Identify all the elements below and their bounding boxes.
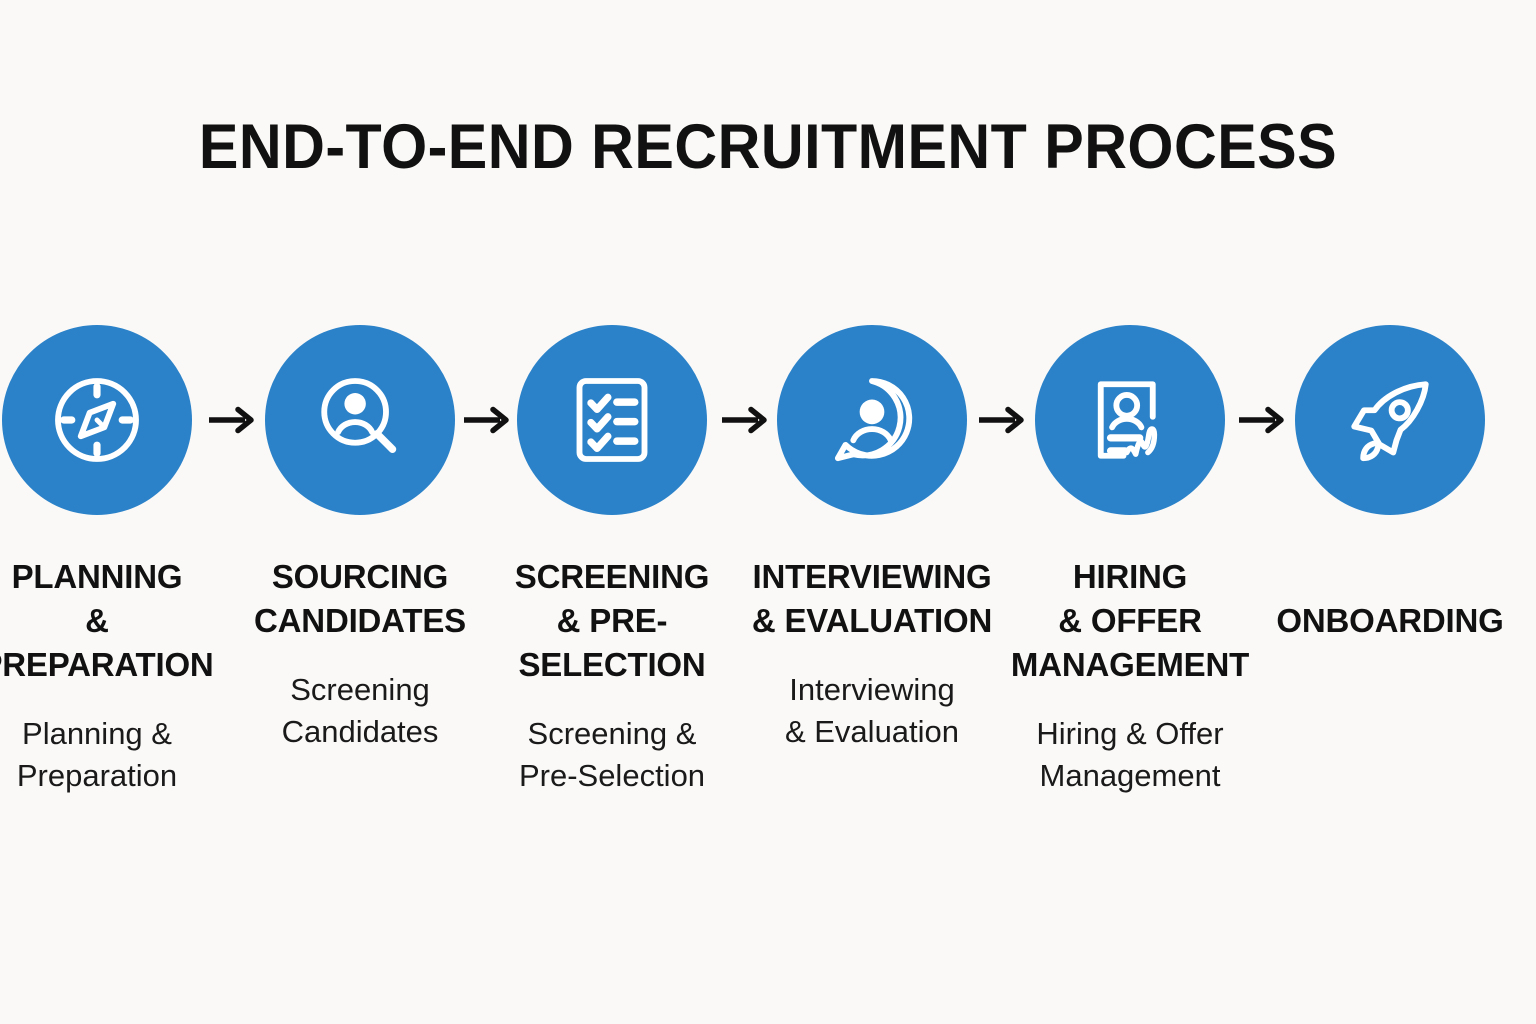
step-icon-circle-1 [2,325,192,515]
step-sublabel-1: Planning & Preparation [0,713,223,797]
process-step-hiring-offer-management[interactable]: HIRING & OFFER MANAGEMENT Hiring & Offer… [1004,325,1256,797]
arrow-step-4-to-5 [975,400,1031,440]
step-icon-circle-3 [517,325,707,515]
process-step-screening-preselection[interactable]: SCREENING & PRE- SELECTION Screening & P… [486,325,738,797]
arrow-step-5-to-6 [1235,400,1291,440]
step-sublabel-3: Screening & Pre-Selection [486,713,738,797]
step-heading-1: PLANNING & PREPARATION [0,555,223,687]
step-heading-3: SCREENING & PRE- SELECTION [486,555,738,687]
person-search-icon [308,368,412,472]
checklist-icon [560,368,664,472]
arrow-step-1-to-2 [205,400,261,440]
arrow-right-icon [205,400,261,440]
arrow-right-icon [460,400,516,440]
step-heading-6: ONBOARDING [1264,599,1516,643]
process-flow-diagram: PLANNING & PREPARATION Planning & Prepar… [0,0,1536,1024]
rocket-icon [1338,368,1442,472]
step-sublabel-4: Interviewing & Evaluation [746,669,998,753]
signed-document-icon [1078,368,1182,472]
arrow-right-icon [718,400,774,440]
step-icon-circle-5 [1035,325,1225,515]
step-heading-4: INTERVIEWING & EVALUATION [746,555,998,643]
step-icon-circle-4 [777,325,967,515]
arrow-right-icon [1235,400,1291,440]
process-step-interviewing-evaluation[interactable]: INTERVIEWING & EVALUATION Interviewing &… [746,325,998,753]
step-icon-circle-6 [1295,325,1485,515]
step-heading-2: SOURCING CANDIDATES [234,555,486,643]
process-step-planning-preparation[interactable]: PLANNING & PREPARATION Planning & Prepar… [0,325,223,797]
arrow-step-2-to-3 [460,400,516,440]
step-sublabel-2: Screening Candidates [234,669,486,753]
step-heading-5: HIRING & OFFER MANAGEMENT [1004,555,1256,687]
process-step-sourcing-candidates[interactable]: SOURCING CANDIDATES Screening Candidates [234,325,486,753]
arrow-step-3-to-4 [718,400,774,440]
step-icon-circle-2 [265,325,455,515]
compass-icon [45,368,149,472]
process-step-onboarding[interactable]: ONBOARDING [1264,325,1516,669]
arrow-right-icon [975,400,1031,440]
step-sublabel-5: Hiring & Offer Management [1004,713,1256,797]
person-speech-bubble-icon [820,368,924,472]
